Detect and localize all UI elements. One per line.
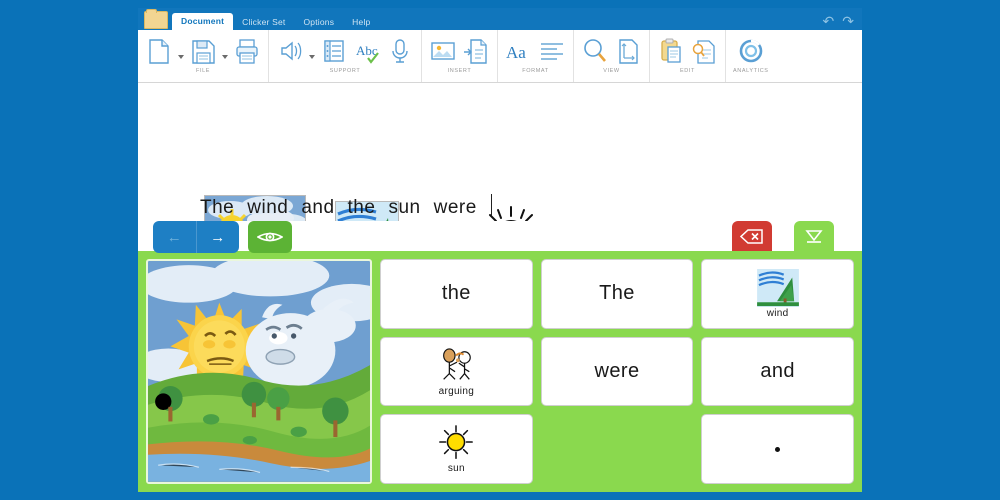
text-cursor [491, 194, 493, 216]
clicker-grid-panel: the The wind [138, 251, 862, 492]
tab-clicker-set[interactable]: Clicker Set [233, 14, 294, 30]
grid-cell-label: sun [448, 463, 465, 474]
tab-options[interactable]: Options [294, 14, 343, 30]
ribbon-group-label-support: SUPPORT [330, 68, 361, 74]
grid-cell-were[interactable]: were [541, 337, 694, 407]
grid-cell-The-upper[interactable]: The [541, 259, 694, 329]
save-dropdown-icon[interactable] [222, 55, 228, 59]
ribbon-group-support: Abc SUPPORT [269, 30, 422, 82]
arguing-figures-icon [435, 347, 477, 385]
spellcheck-abc-icon[interactable]: Abc [353, 36, 381, 66]
save-icon[interactable] [189, 36, 217, 66]
grid-cell-the-lower[interactable]: the [380, 259, 533, 329]
undo-redo-group: ↶ ↷ [823, 15, 854, 27]
ribbon-group-format: Aa FORMAT [498, 30, 574, 82]
ribbon-group-label-analytics: ANALYTICS [733, 68, 769, 74]
grid-cell-empty [541, 414, 694, 484]
title-bar: Document Clicker Set Options Help ↶ ↷ [138, 8, 862, 30]
find-replace-icon[interactable] [690, 36, 718, 66]
align-text-icon[interactable] [538, 36, 566, 66]
full-stop-icon [775, 447, 780, 452]
eye-icon [257, 229, 283, 245]
word-bank-icon[interactable] [320, 36, 348, 66]
new-document-dropdown-icon[interactable] [178, 55, 184, 59]
doc-word-4: the [348, 197, 376, 219]
grid-cell-word: were [595, 360, 640, 383]
ribbon-group-label-view: VIEW [603, 68, 619, 74]
grid-cells: the The wind [380, 259, 854, 484]
delete-backspace-button[interactable] [732, 221, 772, 251]
grid-cell-and[interactable]: and [701, 337, 854, 407]
ribbon-group-analytics: ANALYTICS [726, 30, 776, 82]
font-aa-icon[interactable]: Aa [505, 36, 533, 66]
sun-icon [435, 424, 477, 462]
microphone-icon[interactable] [386, 36, 414, 66]
grid-big-picture[interactable] [146, 259, 372, 484]
undo-icon[interactable]: ↶ [823, 15, 835, 27]
paste-clipboard-icon[interactable] [657, 36, 685, 66]
grid-cell-wind[interactable]: wind [701, 259, 854, 329]
doc-word-1: The [200, 197, 234, 219]
grid-cell-label: arguing [439, 386, 474, 397]
zoom-magnifier-icon[interactable] [581, 36, 609, 66]
grid-cell-word: and [760, 360, 795, 383]
redo-icon[interactable]: ↷ [842, 15, 854, 27]
chevron-down-icon [804, 228, 824, 244]
back-button[interactable]: ← [153, 221, 197, 253]
ribbon-group-edit: EDIT [650, 30, 726, 82]
document-controls-bar: ← → [138, 221, 862, 251]
page-layout-icon[interactable] [614, 36, 642, 66]
doc-word-2: wind [247, 197, 288, 219]
tab-help[interactable]: Help [343, 14, 379, 30]
doc-word-6: were [434, 197, 477, 219]
print-icon[interactable] [233, 36, 261, 66]
folder-icon[interactable] [144, 11, 168, 29]
ribbon-group-view: VIEW [574, 30, 650, 82]
new-document-icon[interactable] [145, 36, 173, 66]
grid-cell-word: The [599, 282, 635, 305]
clicker-app-window: Document Clicker Set Options Help ↶ ↷ [138, 8, 862, 492]
document-text-line[interactable]: The wind and the sun were [200, 191, 505, 219]
document-page[interactable]: The wind and the sun were [138, 83, 862, 221]
wind-tree-icon [757, 269, 799, 307]
ribbon-group-label-format: FORMAT [522, 68, 548, 74]
speaker-dropdown-icon[interactable] [309, 55, 315, 59]
doc-word-5: sun [388, 197, 420, 219]
tab-document[interactable]: Document [172, 13, 233, 30]
tab-bar: Document Clicker Set Options Help [172, 13, 379, 30]
collapse-grid-button[interactable] [794, 221, 834, 251]
speaker-icon[interactable] [276, 36, 304, 66]
analytics-donut-icon[interactable] [737, 36, 765, 66]
ribbon-group-insert: INSERT [422, 30, 498, 82]
ribbon-group-file: FILE [138, 30, 269, 82]
navigation-buttons: ← → [153, 221, 239, 253]
doc-word-3: and [301, 197, 334, 219]
grid-cell-label: wind [767, 308, 789, 319]
aa-text: Aa [506, 43, 526, 62]
grid-cell-word: the [442, 282, 471, 305]
insert-picture-icon[interactable] [429, 36, 457, 66]
sun-and-wind-illustration [148, 261, 370, 482]
ribbon-group-label-file: FILE [196, 68, 210, 74]
forward-button[interactable]: → [197, 221, 240, 253]
backspace-icon [740, 229, 764, 244]
ribbon-group-label-edit: EDIT [680, 68, 695, 74]
preview-eye-button[interactable] [248, 221, 292, 253]
ribbon-toolbar: FILE Abc [138, 30, 862, 83]
grid-cell-sun[interactable]: sun [380, 414, 533, 484]
grid-cell-full-stop[interactable] [701, 414, 854, 484]
grid-cell-arguing[interactable]: arguing [380, 337, 533, 407]
ribbon-group-label-insert: INSERT [448, 68, 472, 74]
insert-page-icon[interactable] [462, 36, 490, 66]
